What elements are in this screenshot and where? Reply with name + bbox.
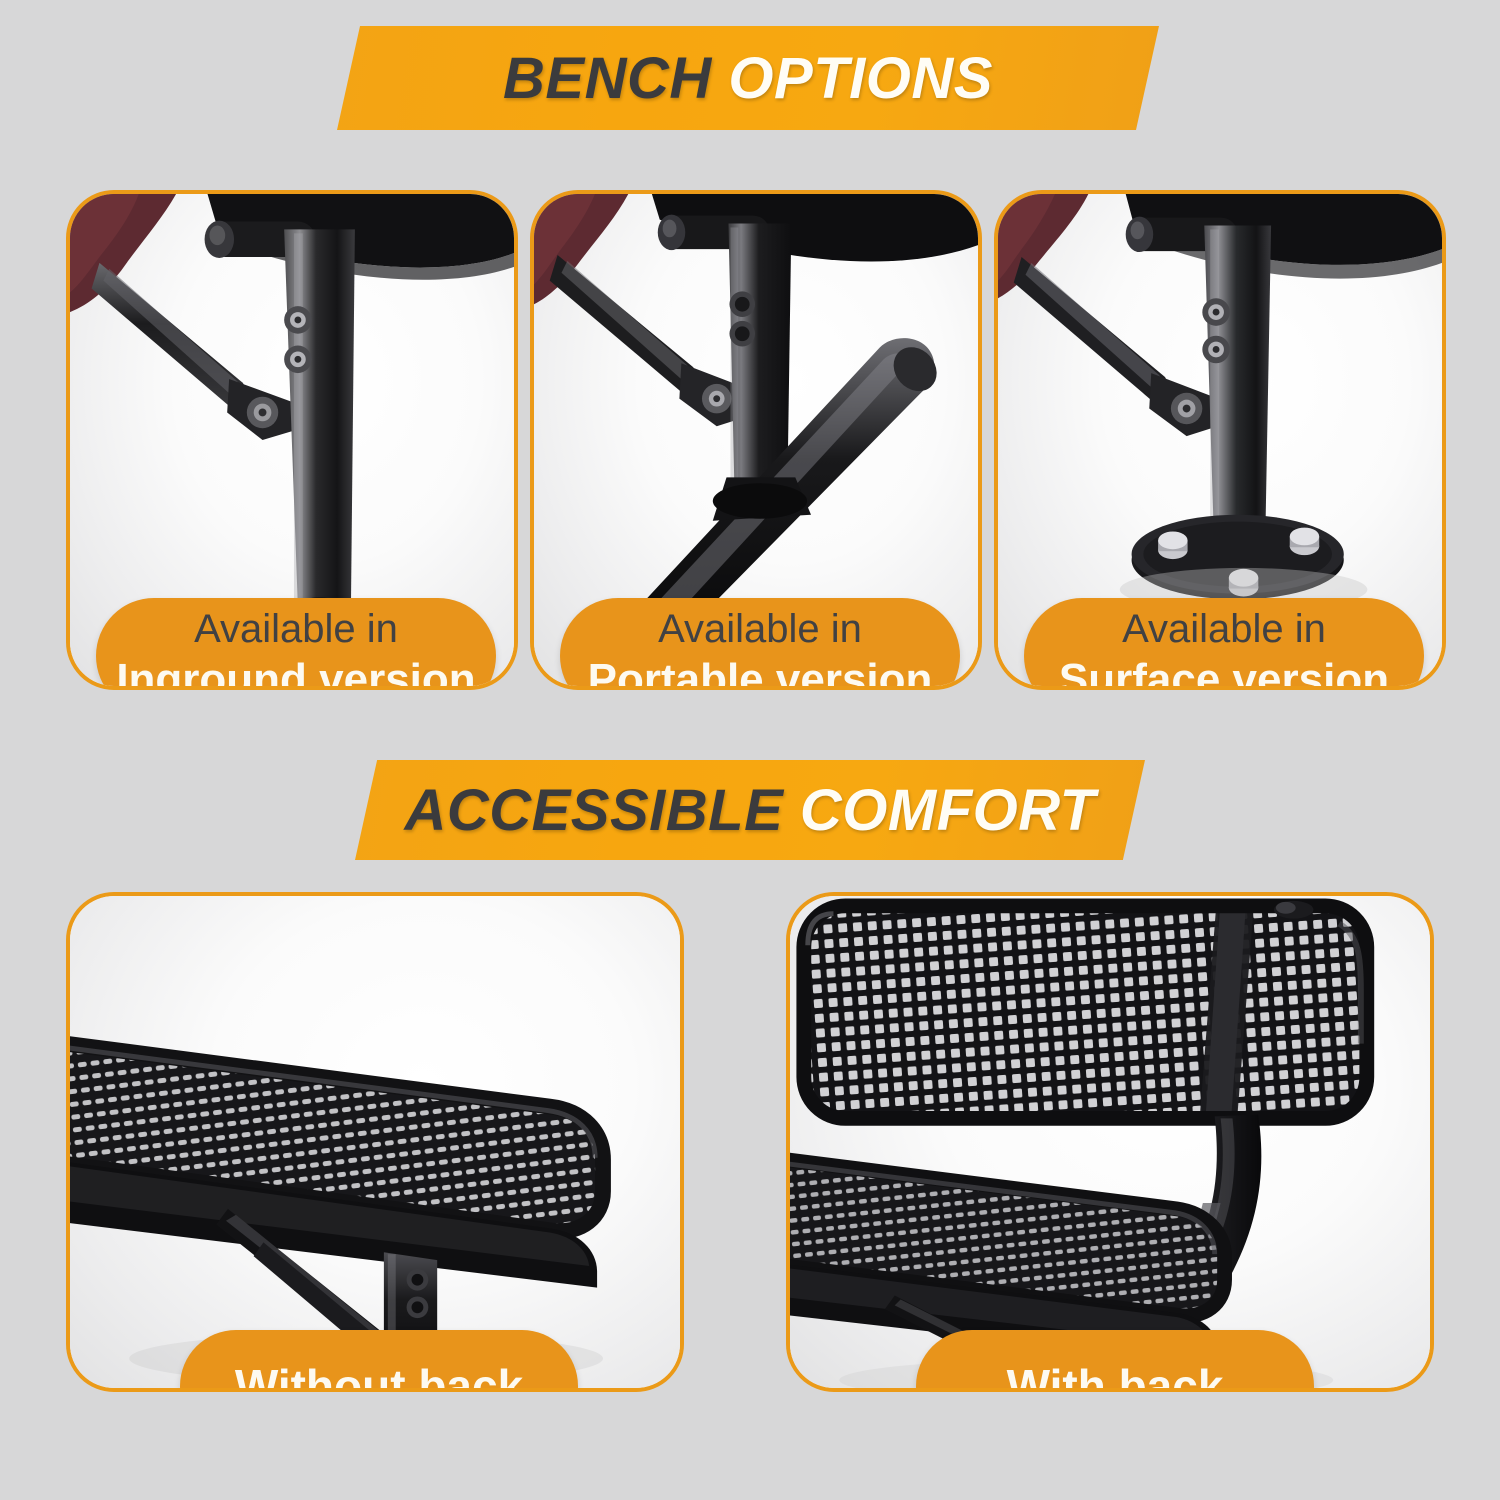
bench-without-back-illustration [70,896,680,1388]
pill-line-secondary: Inground version [116,654,475,690]
card-without-back[interactable]: Without back [66,892,684,1392]
accessible-comfort-banner: ACCESSIBLE COMFORT [355,760,1145,860]
card-with-back[interactable]: With back [786,892,1434,1392]
bench-options-banner: BENCH OPTIONS [337,26,1159,130]
banner-light-word: OPTIONS [728,46,993,111]
card-portable[interactable]: Available in Portable version [530,190,982,690]
bench-with-back-photo [790,896,1430,1388]
label-pill-inground: Available in Inground version [96,598,496,690]
card-inground[interactable]: Available in Inground version [66,190,518,690]
bench-without-back-photo [70,896,680,1388]
pill-line-primary: Available in [1122,606,1326,653]
banner-light-word: COMFORT [800,778,1096,843]
bench-with-back-illustration [790,896,1430,1388]
pill-line-secondary: Portable version [588,654,933,690]
label-pill-with-back: With back [916,1330,1314,1392]
pill-line-primary: Available in [658,606,862,653]
banner-dark-word: ACCESSIBLE [404,778,783,843]
pill-line-primary: Available in [194,606,398,653]
bench-options-banner-text: BENCH OPTIONS [503,45,993,112]
label-pill-surface: Available in Surface version [1024,598,1424,690]
pill-label: With back [1007,1359,1224,1392]
accessible-comfort-banner-text: ACCESSIBLE COMFORT [404,777,1095,844]
pill-line-secondary: Surface version [1059,654,1389,690]
label-pill-without-back: Without back [180,1330,578,1392]
pill-label: Without back [235,1359,523,1392]
label-pill-portable: Available in Portable version [560,598,960,690]
card-surface[interactable]: Available in Surface version [994,190,1446,690]
banner-dark-word: BENCH [503,46,712,111]
